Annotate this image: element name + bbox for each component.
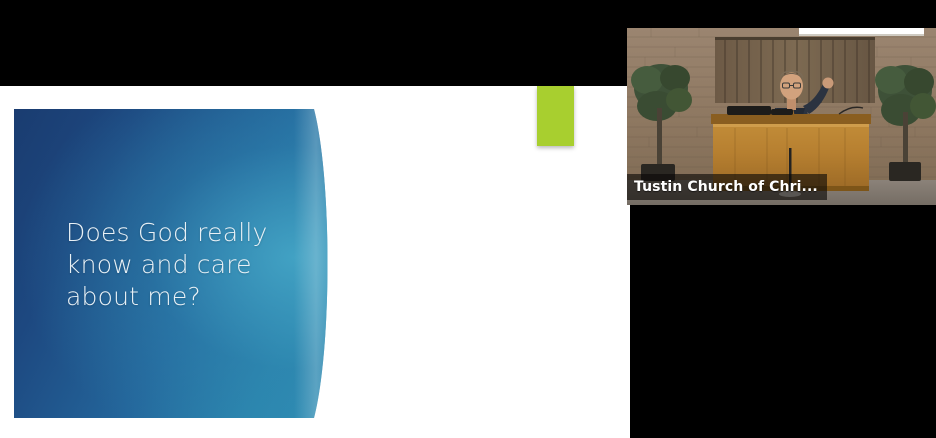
presentation-slide: Does God really know and care about me? [0,86,630,438]
green-accent-rectangle [537,86,574,146]
participant-video-tile[interactable]: Tustin Church of Chri... [627,28,936,205]
screen-share-window: Does God really know and care about me? [0,0,936,438]
slide-title-text: Does God really know and care about me? [66,217,301,313]
participant-name-label: Tustin Church of Chri... [627,174,827,200]
